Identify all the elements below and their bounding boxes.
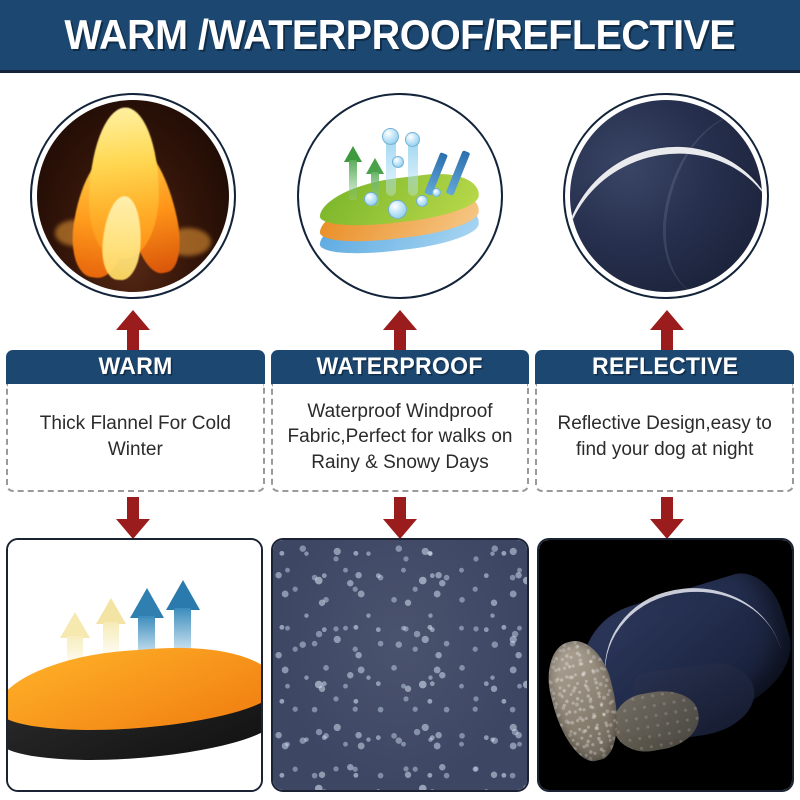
arrow-shaft bbox=[127, 497, 139, 521]
feature-card-body-waterproof: Waterproof Windproof Fabric,Perfect for … bbox=[271, 384, 530, 492]
water-droplet bbox=[382, 128, 399, 145]
thermal-insulation-art bbox=[8, 540, 261, 790]
arrow-shaft bbox=[394, 497, 406, 521]
feature-heading: WARM bbox=[98, 353, 172, 381]
waterproof-icon-art bbox=[304, 100, 496, 292]
photo-waterproof-fabric bbox=[271, 538, 528, 792]
feature-icon-cell-waterproof bbox=[267, 88, 534, 303]
arrow-head bbox=[116, 519, 150, 539]
arrow-up-icon bbox=[116, 310, 150, 352]
water-droplet bbox=[392, 156, 404, 168]
flame-icon-art bbox=[37, 100, 229, 292]
arrow-down-icon bbox=[650, 497, 684, 539]
water-beaded-fabric-art bbox=[273, 540, 526, 790]
feature-card-row: WARM Thick Flannel For Cold Winter WATER… bbox=[6, 350, 794, 492]
navy-fabric-background bbox=[570, 100, 762, 292]
cold-air-arrow-icon bbox=[166, 580, 200, 610]
water-droplet bbox=[405, 132, 420, 147]
feature-photo-row bbox=[6, 538, 794, 792]
arrow-head bbox=[383, 310, 417, 330]
feature-card-header-warm: WARM bbox=[6, 350, 265, 384]
reflective-strip-fabric-icon bbox=[563, 93, 769, 299]
airflow-up-stem bbox=[349, 160, 357, 200]
waterproof-fabric-layers-icon bbox=[297, 93, 503, 299]
water-droplet bbox=[432, 188, 441, 197]
photo-thermal-insulation bbox=[6, 538, 263, 792]
cold-air-arrow-icon bbox=[130, 588, 164, 618]
arrow-down-icon bbox=[383, 497, 417, 539]
arrow-head bbox=[650, 519, 684, 539]
arrow-shaft bbox=[661, 497, 673, 521]
arrow-head bbox=[383, 519, 417, 539]
reflective-icon-art bbox=[570, 100, 762, 292]
cold-air-stem bbox=[174, 608, 191, 650]
arrow-shaft bbox=[127, 328, 139, 352]
warm-air-arrow-icon bbox=[96, 598, 126, 624]
feature-card-header-reflective: REFLECTIVE bbox=[535, 350, 794, 384]
feature-heading: REFLECTIVE bbox=[592, 353, 738, 381]
warm-air-arrow-icon bbox=[60, 612, 90, 638]
arrow-down-icon bbox=[116, 497, 150, 539]
feature-icon-row bbox=[0, 88, 800, 303]
infographic-page: WARM /WATERPROOF/REFLECTIVE bbox=[0, 0, 800, 800]
water-droplet bbox=[416, 195, 428, 207]
dog-coat-art bbox=[539, 540, 792, 790]
page-title: WARM /WATERPROOF/REFLECTIVE bbox=[65, 11, 736, 59]
feature-description: Waterproof Windproof Fabric,Perfect for … bbox=[281, 399, 520, 476]
fire-background bbox=[37, 100, 229, 292]
arrow-up-icon bbox=[383, 310, 417, 352]
feature-description: Reflective Design,easy to find your dog … bbox=[545, 411, 784, 462]
photo-reflective-dog-coat bbox=[537, 538, 794, 792]
feature-card-warm: WARM Thick Flannel For Cold Winter bbox=[6, 350, 265, 492]
arrow-head bbox=[116, 310, 150, 330]
feature-card-waterproof: WATERPROOF Waterproof Windproof Fabric,P… bbox=[271, 350, 530, 492]
feature-icon-cell-warm bbox=[0, 88, 267, 303]
arrow-up-icon bbox=[650, 310, 684, 352]
water-droplet bbox=[364, 192, 378, 206]
arrow-shaft bbox=[394, 328, 406, 352]
feature-heading: WATERPROOF bbox=[317, 353, 483, 381]
fabric-layers-background bbox=[304, 100, 496, 292]
feature-icon-cell-reflective bbox=[533, 88, 800, 303]
feature-card-body-warm: Thick Flannel For Cold Winter bbox=[6, 384, 265, 492]
feature-card-header-waterproof: WATERPROOF bbox=[271, 350, 530, 384]
arrow-head bbox=[650, 310, 684, 330]
arrow-shaft bbox=[661, 328, 673, 352]
water-droplet bbox=[388, 200, 407, 219]
feature-description: Thick Flannel For Cold Winter bbox=[16, 411, 255, 462]
feature-card-body-reflective: Reflective Design,easy to find your dog … bbox=[535, 384, 794, 492]
flame-icon bbox=[30, 93, 236, 299]
header-banner: WARM /WATERPROOF/REFLECTIVE bbox=[0, 0, 800, 73]
feature-card-reflective: REFLECTIVE Reflective Design,easy to fin… bbox=[535, 350, 794, 492]
